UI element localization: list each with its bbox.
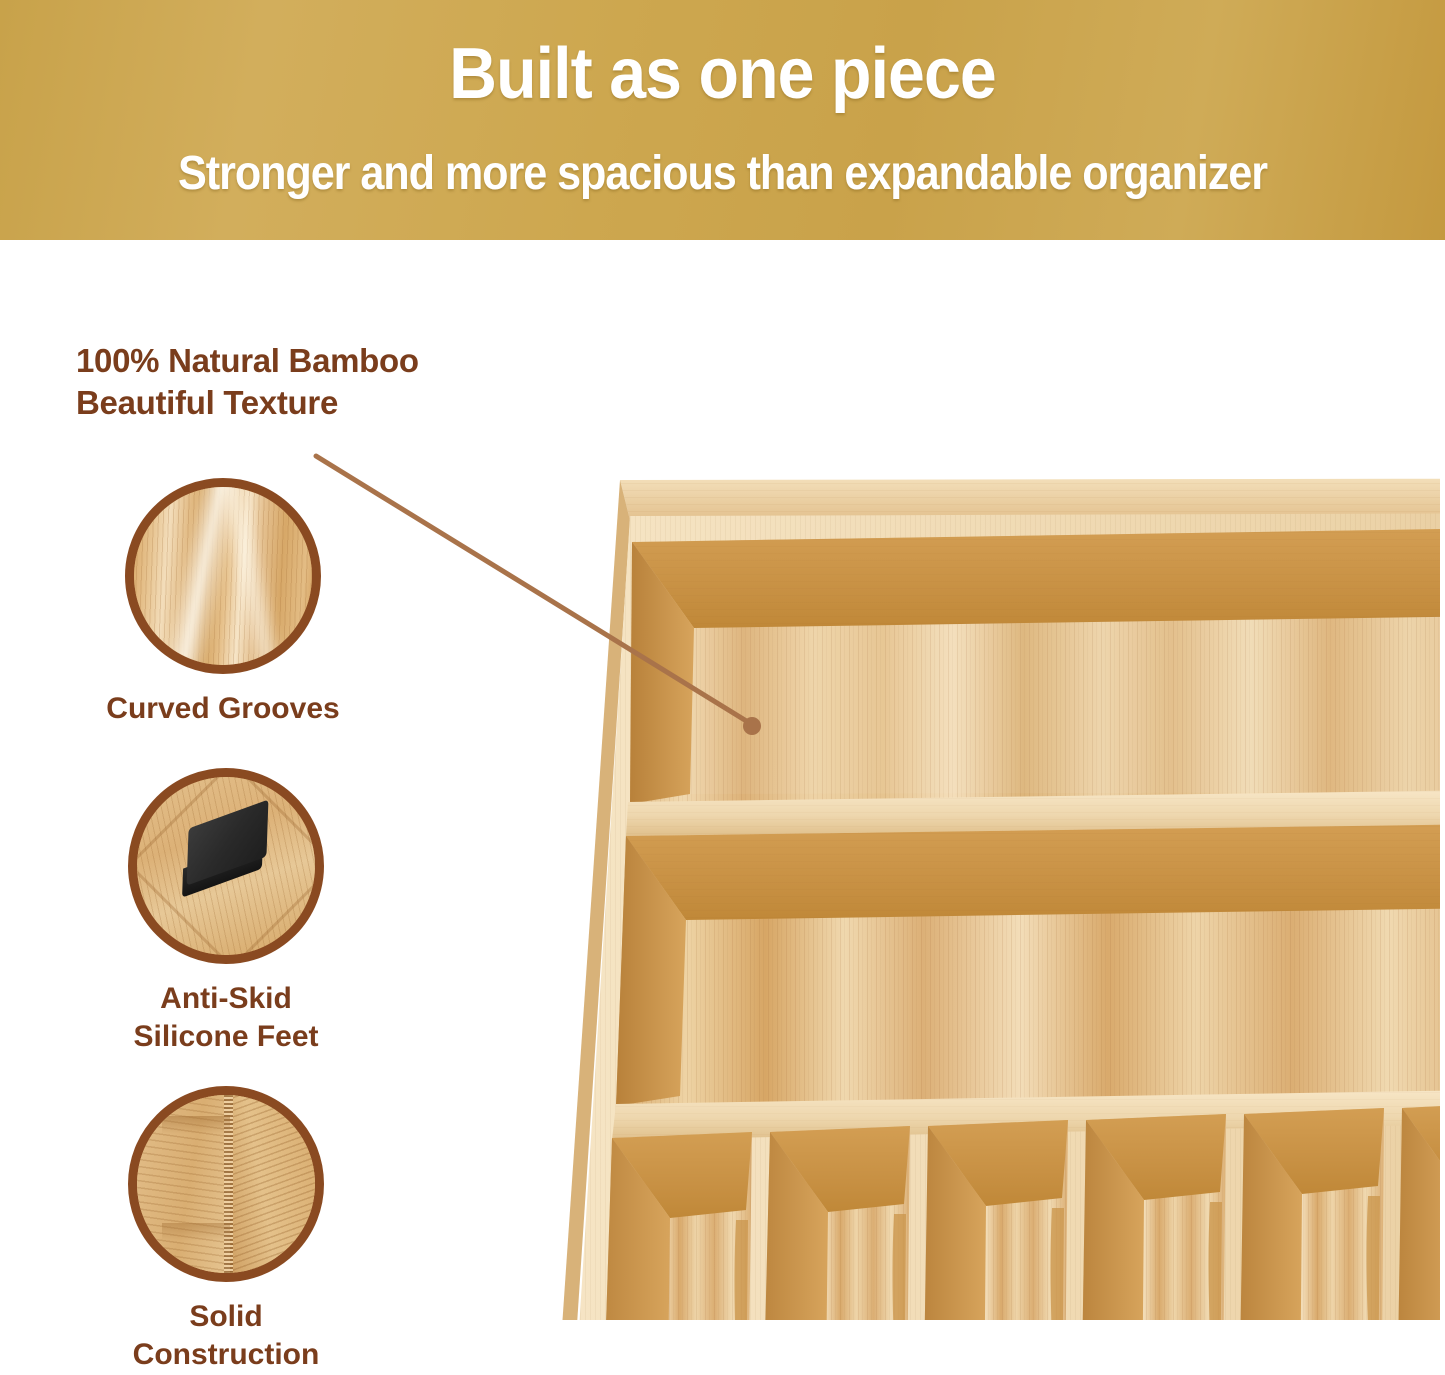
compartment-middle-left (616, 824, 1440, 1106)
cutlery-slot-1 (588, 1132, 752, 1320)
compartment-top-left (630, 528, 1440, 804)
cutlery-slot-5 (1232, 1108, 1384, 1320)
cutlery-slot-3 (916, 1120, 1068, 1320)
banner-title: Built as one piece (58, 36, 1387, 112)
page-headline: 100% Natural Bamboo Beautiful Texture (76, 340, 636, 424)
feature-badge-solid-construction: Solid Construction (128, 1086, 386, 1374)
feature-label-solid-line-2: Construction (66, 1336, 386, 1374)
feature-badge-anti-skid-silicone-feet: Anti-Skid Silicone Feet (128, 768, 386, 1056)
feature-badge-curved-grooves: Curved Grooves (125, 478, 383, 728)
headline-line-1: 100% Natural Bamboo (76, 340, 636, 382)
bamboo-corner-joint-icon (128, 1086, 324, 1282)
feature-label-solid-line-1: Solid (66, 1298, 386, 1336)
product-image-bamboo-drawer-organizer (480, 420, 1440, 1320)
feature-label-anti-skid-line-1: Anti-Skid (66, 980, 386, 1018)
black-silicone-foot-icon (128, 768, 324, 964)
feature-label-curved-grooves: Curved Grooves (63, 690, 383, 728)
bamboo-curved-groove-icon (125, 478, 321, 674)
headline-line-2: Beautiful Texture (76, 382, 636, 424)
header-banner: Built as one piece Stronger and more spa… (0, 0, 1445, 240)
cutlery-slot-group (588, 1104, 1440, 1320)
product-illustration (480, 420, 1440, 1320)
feature-label-anti-skid-line-2: Silicone Feet (66, 1018, 386, 1056)
cutlery-slot-4 (1074, 1114, 1226, 1320)
banner-subtitle: Stronger and more spacious than expandab… (72, 148, 1373, 200)
cutlery-slot-2 (752, 1126, 910, 1320)
